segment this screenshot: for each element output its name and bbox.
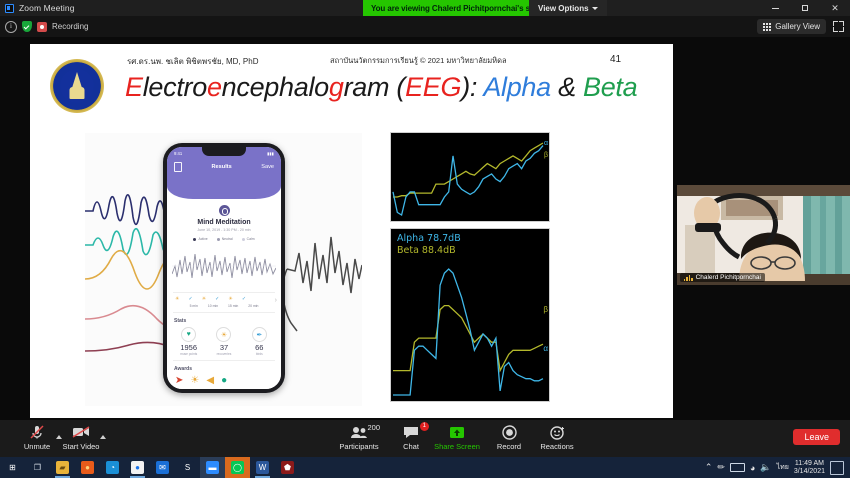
zoom-meeting-window: Zoom Meeting You are viewing Chalerd Pic… xyxy=(0,0,850,478)
session-title: Mind Meditation xyxy=(167,219,281,226)
recording-label: Recording xyxy=(52,22,88,31)
series-alpha xyxy=(393,146,543,215)
info-icon[interactable]: i xyxy=(5,21,17,33)
share-screen-button[interactable]: Share Screen xyxy=(428,424,486,451)
eeg-chart-bottom: Alpha 78.7dB Beta 88.4dB β α xyxy=(390,228,550,402)
shield-check-icon[interactable] xyxy=(22,21,32,32)
line-icon: ◯ xyxy=(231,461,244,474)
zoom-top-bar: i Recording Gallery View xyxy=(0,16,850,37)
pdf-icon: ⬟ xyxy=(281,461,294,474)
slide-title: Electroencephalogram (EEG): Alpha & Beta xyxy=(125,72,637,103)
ime-icon[interactable]: ไทย xyxy=(777,462,789,473)
record-button-label: Record xyxy=(497,442,521,451)
participants-button[interactable]: Participants200 xyxy=(330,424,388,451)
timeline-tick: 5 min xyxy=(190,304,198,308)
zoom-icon: ▬ xyxy=(206,461,219,474)
stats-heading: Stats xyxy=(174,318,281,324)
participants-icon xyxy=(350,424,368,440)
series-beta xyxy=(393,143,543,197)
timeline-icons: ☀ ✓ ☀ ✓ ☀ ✓ xyxy=(167,293,281,302)
slide-title-part: ): xyxy=(461,72,483,102)
presentation-slide: รศ.ดร.นพ. ชเลิต พิชิตพรชัย, MD, PhD สถาบ… xyxy=(30,44,673,418)
video-muted-icon xyxy=(72,424,90,440)
beta-readout: Beta 88.4dB xyxy=(397,245,461,257)
awards-row: ➤☀◀● xyxy=(167,372,281,386)
word-icon: W xyxy=(256,461,269,474)
session-waveform xyxy=(172,244,276,288)
leave-button[interactable]: Leave xyxy=(793,429,840,445)
alpha-edge-label: α xyxy=(544,140,548,147)
window-title: Zoom Meeting xyxy=(19,3,75,13)
globe-award-icon[interactable]: ● xyxy=(221,375,227,386)
alpha-readout: Alpha 78.7dB xyxy=(397,233,461,245)
reactions-button[interactable]: Reactions xyxy=(528,424,586,451)
slide-header: รศ.ดร.นพ. ชเลิต พิชิตพรชัย, MD, PhD สถาบ… xyxy=(30,44,673,122)
system-tray: ⌃ ✏ ◕ 🔈 ไทย 11:49 AM 3/14/2021 xyxy=(705,457,844,478)
reactions-button-label: Reactions xyxy=(540,442,573,451)
stat-value: 66 xyxy=(242,343,277,352)
share-screen-icon xyxy=(449,424,465,440)
slide-institute: สถาบันนวัตกรรมการเรียนรู้ © 2021 มหาวิทย… xyxy=(330,55,507,67)
edge-icon: ◔ xyxy=(106,461,119,474)
view-options-label: View Options xyxy=(538,4,589,13)
unmute-button-label: Unmute xyxy=(24,442,50,451)
alpha-edge-label: α xyxy=(543,344,548,353)
sun-icon: ☀ xyxy=(216,327,231,342)
leaf-icon: ♥ xyxy=(181,327,196,342)
grid-icon xyxy=(763,23,771,31)
slide-title-part: Alpha xyxy=(483,72,551,102)
record-icon xyxy=(502,424,517,440)
sun-award-icon[interactable]: ☀ xyxy=(190,375,199,386)
volume-icon[interactable]: 🔈 xyxy=(760,462,771,473)
reactions-icon xyxy=(550,424,565,440)
app-nav-title: Results xyxy=(212,164,232,170)
session-subtitle: June 10, 2019 - 1:30 PM - 20 min xyxy=(167,228,281,232)
timeline-tick: 15 min xyxy=(228,304,238,308)
recording-icon[interactable] xyxy=(37,22,47,32)
skype-icon: S xyxy=(181,461,194,474)
slide-title-part: Beta xyxy=(583,72,637,102)
save-button[interactable]: Save xyxy=(261,164,274,170)
window-title-bar: Zoom Meeting You are viewing Chalerd Pic… xyxy=(0,0,850,16)
screen-share-banner-text: You are viewing Chalerd Pichitpornchai's… xyxy=(371,4,551,13)
zoom-button[interactable]: ▬ xyxy=(200,457,225,478)
mail-icon: ✉ xyxy=(156,461,169,474)
minimize-button[interactable] xyxy=(760,0,790,16)
status-time: 9:41 xyxy=(174,151,182,156)
chevron-up-icon[interactable] xyxy=(100,435,106,439)
chevron-down-icon xyxy=(592,7,598,10)
edge-button[interactable]: ◔ xyxy=(100,457,125,478)
notification-icon[interactable] xyxy=(830,461,844,475)
slide-page-number: 41 xyxy=(610,54,621,65)
mahidol-university-logo xyxy=(50,59,104,113)
meditation-icon xyxy=(219,205,230,216)
slide-title-part: E xyxy=(125,72,143,102)
participant-video-frame xyxy=(677,185,850,285)
phone-screen: 9:41 ▮▮▮ Results Save Mind Meditati xyxy=(167,147,281,389)
slide-title-part: e xyxy=(207,72,222,102)
folder-icon: ▰ xyxy=(56,461,69,474)
bird-award-icon[interactable]: ➤ xyxy=(175,375,183,386)
clock-date: 3/14/2021 xyxy=(794,468,825,476)
stat-value: 1956 xyxy=(171,343,206,352)
phone-notch xyxy=(202,147,246,156)
eeg-chart-top: α β xyxy=(390,132,550,222)
start-video-button-label: Start Video xyxy=(63,442,100,451)
app-body: Mind Meditation June 10, 2019 - 1:30 PM … xyxy=(167,199,281,389)
chat-button-label: Chat xyxy=(403,442,419,451)
wifi-icon[interactable]: ◕ xyxy=(750,463,755,473)
close-icon: ✕ xyxy=(831,3,839,14)
participant-name: Chalerd Pichitpornchai xyxy=(696,274,761,281)
series-beta xyxy=(393,306,543,371)
zoom-app-icon xyxy=(5,4,14,13)
zoom-view-controls: Gallery View xyxy=(757,16,844,37)
fullscreen-icon[interactable] xyxy=(833,21,844,32)
slide-title-part: lectro xyxy=(143,72,207,102)
stats-row: ♥1956muse points☀37recoveries✒66birds xyxy=(167,327,281,356)
participant-video-tile[interactable]: Chalerd Pichitpornchai xyxy=(677,185,850,285)
timeline-icon: ☀ xyxy=(175,296,179,302)
pen-icon[interactable]: ✏ xyxy=(717,462,725,473)
microphone-muted-icon xyxy=(29,424,45,440)
task-view-icon: ❐ xyxy=(31,461,44,474)
clock-time: 11:49 AM xyxy=(794,460,825,468)
slide-title-part: ram ( xyxy=(344,72,406,102)
windows-taskbar: ⊞❐▰●◔●✉S▬◯W⬟ ⌃ ✏ ◕ 🔈 ไทย 11:49 AM 3/14/2… xyxy=(0,457,850,478)
start-video-button[interactable]: Start Video xyxy=(52,424,110,451)
task-view-button[interactable]: ❐ xyxy=(25,457,50,478)
file-explorer-button[interactable]: ▰ xyxy=(50,457,75,478)
timeline-icon: ☀ xyxy=(228,296,232,302)
acrobat-button[interactable]: ⬟ xyxy=(275,457,300,478)
window-controls: ✕ xyxy=(760,0,850,16)
beta-edge-label: β xyxy=(544,152,548,159)
chrome-icon: ● xyxy=(131,461,144,474)
shared-screen-stage: รศ.ดร.นพ. ชเลิต พิชิตพรชัย, MD, PhD สถาบ… xyxy=(0,37,850,420)
zoom-status-group: i Recording xyxy=(5,16,88,37)
eeg-readout-labels: Alpha 78.7dB Beta 88.4dB xyxy=(397,233,461,256)
timeline-tick: 10 min xyxy=(208,304,218,308)
timeline-icon: ✓ xyxy=(215,296,219,302)
audio-level-icon xyxy=(684,275,693,281)
timeline-icon: ☀ xyxy=(202,296,206,302)
timeline-ticks: 5 min10 min15 min20 min xyxy=(167,304,281,308)
eeg-chart-top-plot xyxy=(391,133,547,219)
chat-icon xyxy=(403,424,419,440)
mail-button[interactable]: ✉ xyxy=(150,457,175,478)
timeline-icon: ✓ xyxy=(188,296,192,302)
slide-author: รศ.ดร.นพ. ชเลิต พิชิตพรชัย, MD, PhD xyxy=(127,55,258,68)
participant-count: 200 xyxy=(367,423,380,432)
zoom-bottom-toolbar: Leave UnmuteStart VideoParticipants200Ch… xyxy=(0,420,850,457)
slide-title-part: EEG xyxy=(405,72,461,102)
timeline-icon: ✓ xyxy=(242,296,246,302)
firefox-button[interactable]: ● xyxy=(75,457,100,478)
stat-item: ♥1956muse points xyxy=(171,327,206,356)
stat-label: recoveries xyxy=(206,352,241,356)
gallery-view-label: Gallery View xyxy=(775,22,820,31)
legend-item: Calm xyxy=(242,237,255,241)
skype-button[interactable]: S xyxy=(175,457,200,478)
stat-value: 37 xyxy=(206,343,241,352)
document-icon[interactable] xyxy=(174,162,182,172)
session-legend: ActiveNeutralCalm xyxy=(167,237,281,241)
chrome-button[interactable]: ● xyxy=(125,457,150,478)
start-button[interactable]: ⊞ xyxy=(0,457,25,478)
participant-name-badge: Chalerd Pichitpornchai xyxy=(680,273,765,282)
bird-icon: ✒ xyxy=(252,327,267,342)
taskbar-clock[interactable]: 11:49 AM 3/14/2021 xyxy=(794,460,825,476)
stat-label: muse points xyxy=(171,352,206,356)
firefox-icon: ● xyxy=(81,461,94,474)
slide-title-part: & xyxy=(551,72,583,102)
view-options-button[interactable]: View Options xyxy=(529,0,607,16)
app-nav-bar: Results Save xyxy=(167,162,281,172)
battery-icon[interactable] xyxy=(730,463,745,472)
beta-edge-label: β xyxy=(543,305,548,314)
maximize-button[interactable] xyxy=(790,0,820,16)
legend-item: Active xyxy=(193,237,207,241)
close-button[interactable]: ✕ xyxy=(820,0,850,16)
line-button[interactable]: ◯ xyxy=(225,457,250,478)
stat-label: birds xyxy=(242,352,277,356)
slide-title-part: g xyxy=(329,72,344,102)
word-button[interactable]: W xyxy=(250,457,275,478)
eeg-waves-phone-illustration: 9:41 ▮▮▮ Results Save Mind Meditati xyxy=(85,133,362,406)
chevron-right-icon[interactable]: › xyxy=(275,297,277,304)
participants-button-label: Participants xyxy=(339,442,378,451)
stat-item: ✒66birds xyxy=(242,327,277,356)
slide-title-part: ncephalo xyxy=(222,72,329,102)
gallery-view-button[interactable]: Gallery View xyxy=(757,19,826,34)
series-alpha xyxy=(393,269,543,395)
share-screen-button-label: Share Screen xyxy=(434,442,480,451)
timeline-tick: 20 min xyxy=(248,304,258,308)
windows-icon: ⊞ xyxy=(6,461,19,474)
status-indicators: ▮▮▮ xyxy=(267,151,274,156)
megaphone-award-icon[interactable]: ◀ xyxy=(206,375,214,386)
phone-mockup: 9:41 ▮▮▮ Results Save Mind Meditati xyxy=(163,143,285,393)
chevron-up-icon[interactable]: ⌃ xyxy=(705,462,713,473)
legend-item: Neutral xyxy=(217,237,233,241)
stat-item: ☀37recoveries xyxy=(206,327,241,356)
